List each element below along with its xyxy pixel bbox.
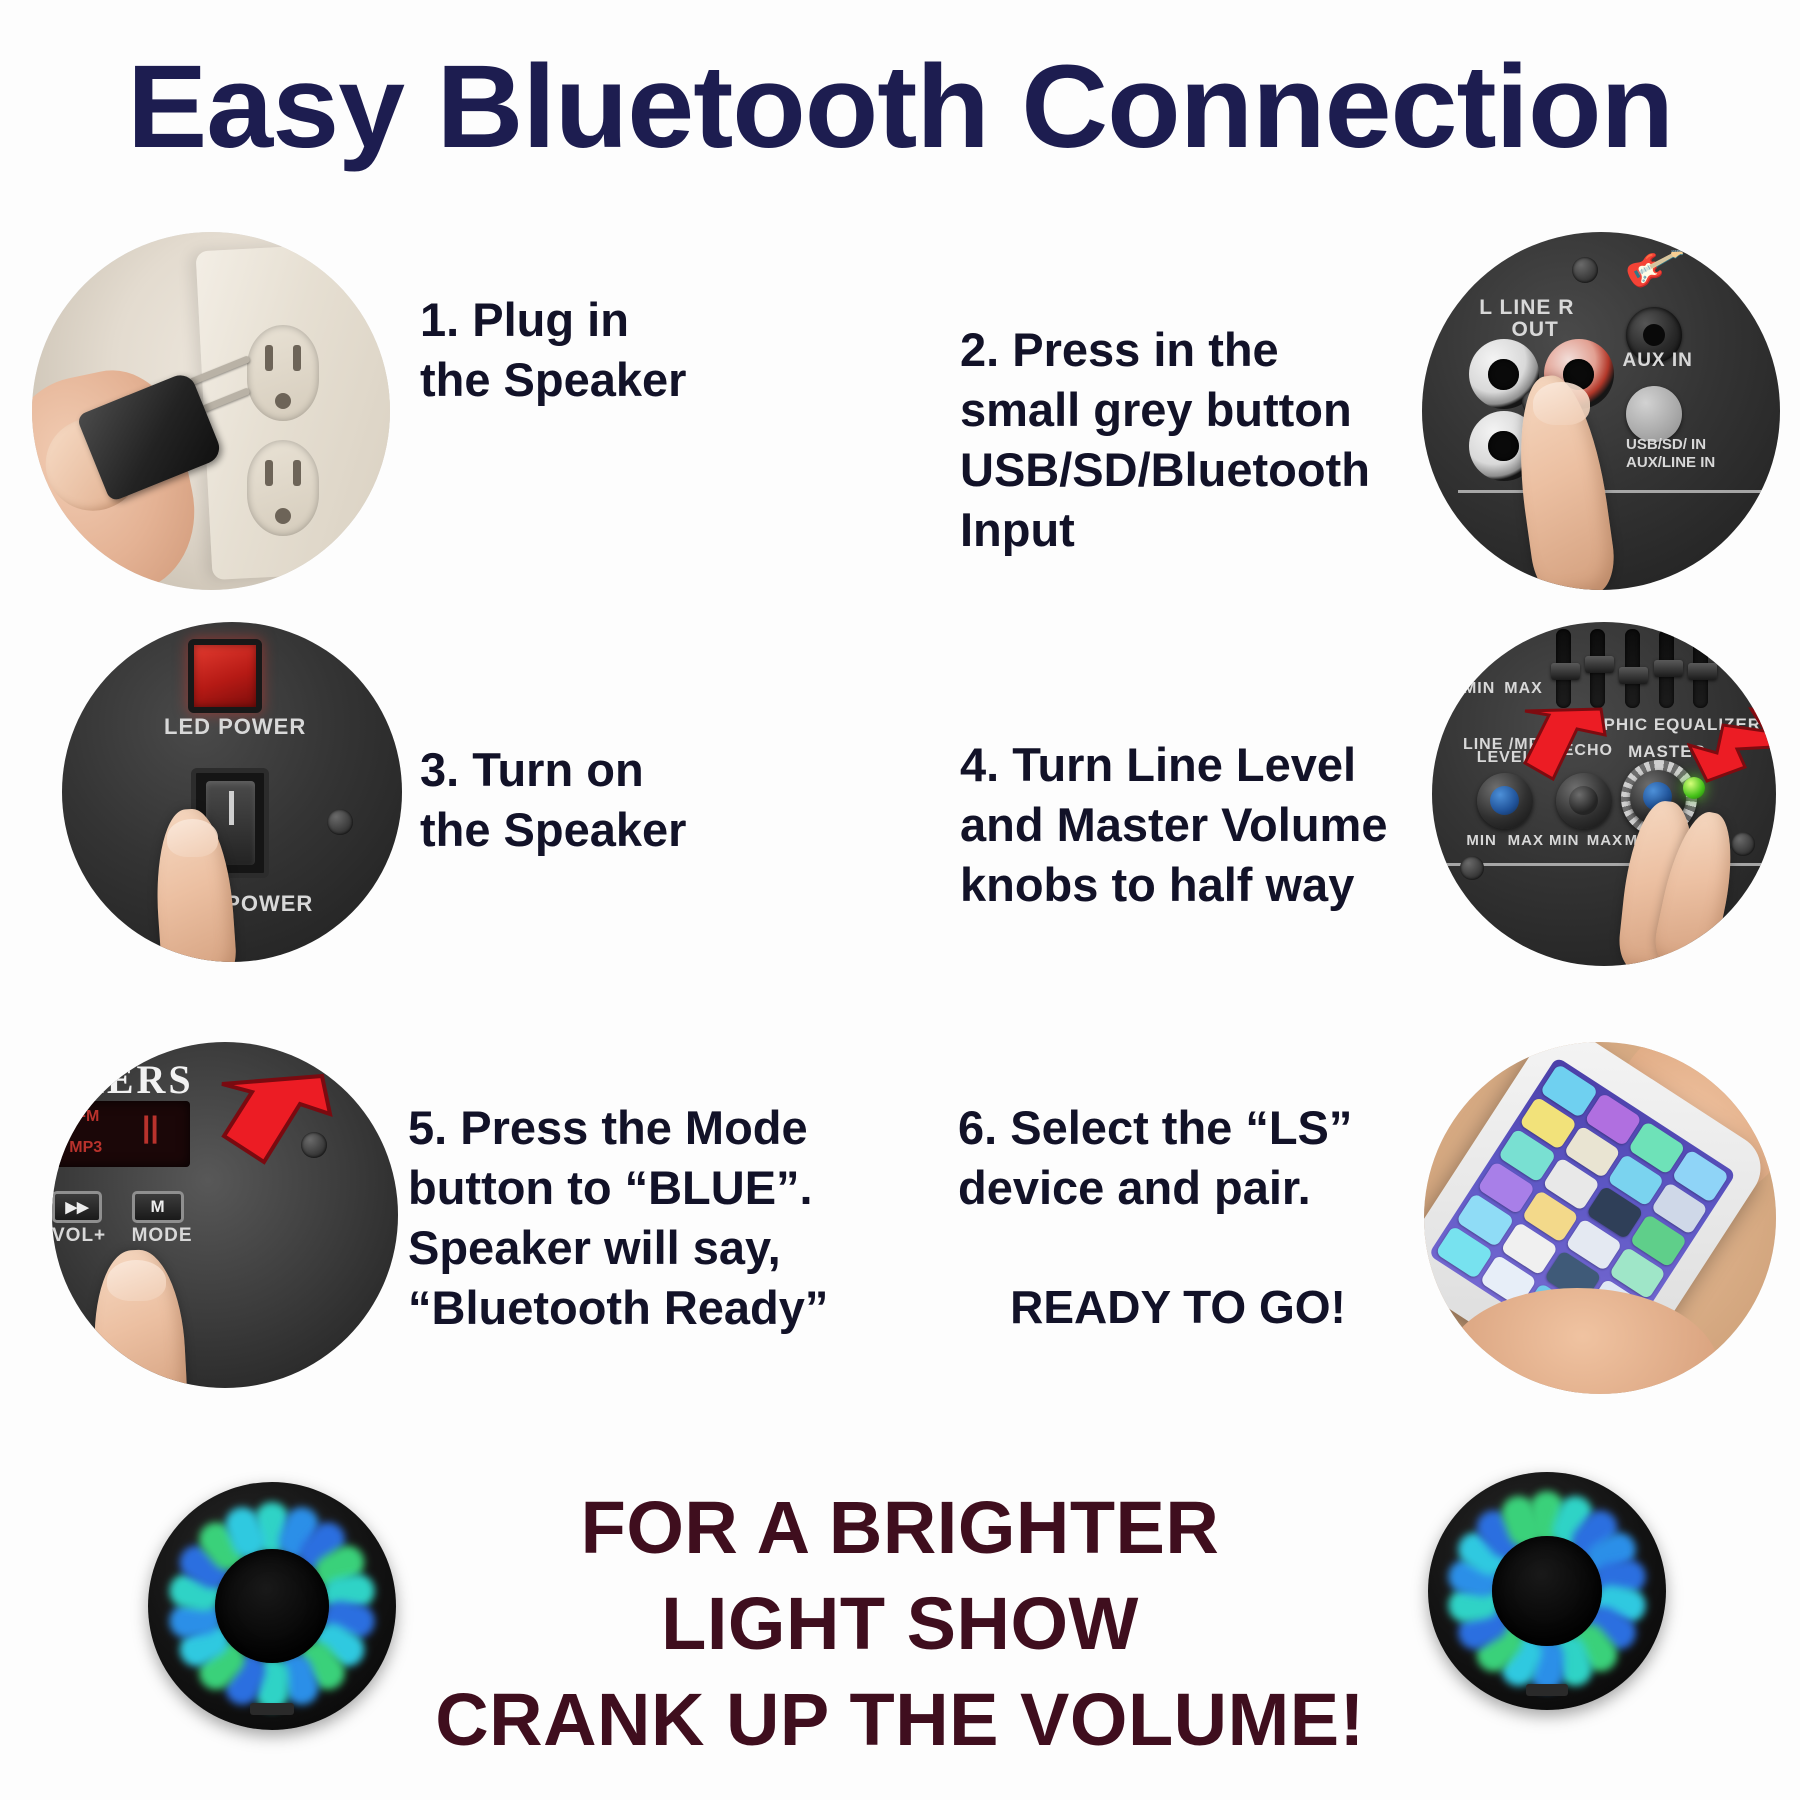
mode-label: MODE xyxy=(132,1225,193,1247)
eq-slider-cap[interactable] xyxy=(1688,663,1717,680)
smartphone-pairing-photo xyxy=(1424,1042,1776,1394)
ready-to-go-text: READY TO GO! xyxy=(958,1278,1398,1336)
out-label: OUT xyxy=(1512,318,1559,342)
page-title: Easy Bluetooth Connection xyxy=(0,48,1800,166)
mode-button[interactable]: M xyxy=(132,1191,184,1223)
speakers-brand-label: KERS xyxy=(73,1056,194,1103)
eq-slider-cap[interactable] xyxy=(1619,667,1648,684)
vol-plus-button[interactable]: ▶▶ xyxy=(52,1191,102,1223)
usb-sd-label: USB/SD/ IN xyxy=(1626,436,1706,453)
step-2-text: 2. Press in the small grey button USB/SD… xyxy=(960,320,1430,560)
outlet-socket-top xyxy=(247,325,319,421)
fingernail xyxy=(167,819,218,856)
red-arrow-left xyxy=(1515,705,1607,787)
red-arrow-down-left xyxy=(204,1070,334,1186)
panel-screw-right xyxy=(1731,832,1755,856)
mp3-indicator: MP3 xyxy=(69,1139,102,1157)
panel-screw-left xyxy=(1460,856,1484,880)
input-panel-photo: 🎸 L LINE R OUT AUX IN USB/SD/ IN AUX/LIN… xyxy=(1422,232,1780,590)
fingernail xyxy=(1533,382,1590,425)
panel-screw-right xyxy=(327,809,353,835)
panel-divider-line xyxy=(1458,490,1762,493)
display-digits: || xyxy=(142,1111,159,1145)
usb-sd-bluetooth-button[interactable] xyxy=(1626,386,1682,442)
aux-in-label: AUX IN xyxy=(1622,350,1692,372)
step-5-text: 5. Press the Mode button to “BLUE”. Spea… xyxy=(408,1098,908,1338)
equalizer-knobs-photo: MIN MAX GRAPHIC EQUALIZER LINE /MP3 LEVE… xyxy=(1432,622,1776,966)
red-arrow-right xyxy=(1687,705,1776,787)
speaker-port xyxy=(1526,1684,1569,1696)
line-out-label: L LINE R xyxy=(1479,296,1574,320)
eq-min-label: MIN xyxy=(1463,680,1495,698)
speaker-center xyxy=(215,1549,329,1663)
led-power-indicator xyxy=(188,639,262,713)
power-switch-photo: LED POWER POWER xyxy=(62,622,402,962)
infographic-page: Easy Bluetooth Connection 1. Plug in the… xyxy=(0,0,1800,1800)
step-1-text: 1. Plug in the Speaker xyxy=(420,290,840,410)
speaker-center xyxy=(1492,1536,1601,1645)
speaker-port xyxy=(250,1703,295,1715)
aux-line-in-label: AUX/LINE IN xyxy=(1626,454,1715,471)
eq-slider-cap[interactable] xyxy=(1654,660,1683,677)
led-power-label: LED POWER xyxy=(164,714,306,740)
power-label: POWER xyxy=(225,891,313,917)
step-4-text: 4. Turn Line Level and Master Volume kno… xyxy=(960,735,1430,915)
eq-slider-cap[interactable] xyxy=(1551,663,1580,680)
fm-indicator: FM xyxy=(76,1108,99,1126)
outlet-socket-bottom xyxy=(247,440,319,536)
fingernail xyxy=(107,1260,166,1302)
eq-slider-cap[interactable] xyxy=(1585,656,1614,673)
vol-plus-label: VOL+ xyxy=(52,1225,106,1247)
wall-outlet-plug-photo xyxy=(32,232,390,590)
eq-max-label: MAX xyxy=(1504,680,1543,698)
step-3-text: 3. Turn on the Speaker xyxy=(420,740,840,860)
knob-min-label: MIN xyxy=(1549,832,1580,849)
knob-max-label: MAX xyxy=(1508,832,1544,849)
knob-min-label: MIN xyxy=(1466,832,1497,849)
step-6-text: 6. Select the “LS” device and pair. xyxy=(958,1098,1428,1218)
knob-max-label: MAX xyxy=(1587,832,1623,849)
mode-button-photo: KERS FM MP3 || ▶▶ VOL+ M MODE xyxy=(52,1042,398,1388)
